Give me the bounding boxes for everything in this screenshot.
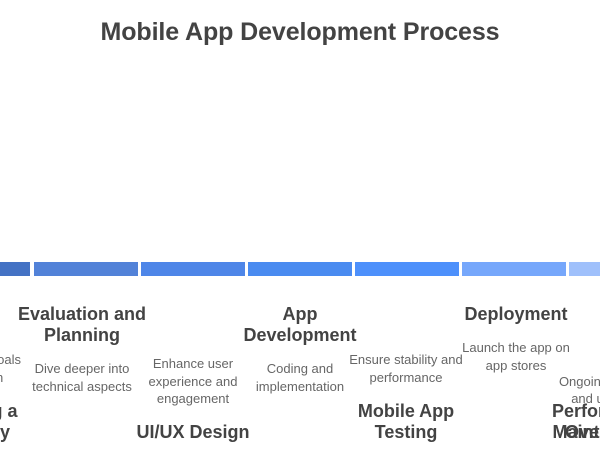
milestone-deployment: Deployment Launch the app on app stores (440, 286, 592, 465)
timeline-bar (0, 262, 600, 276)
milestone-description: Launch the app on app stores (462, 339, 570, 374)
milestone-label: Evaluation and Planning (18, 304, 146, 346)
milestone-description: Coding and implementation (256, 360, 344, 395)
milestone-label: App Development (243, 304, 356, 346)
milestone-evaluation-and-planning: Evaluation and Planning Dive deeper into… (6, 286, 158, 465)
milestone-description: Dive deeper into technical aspects (32, 360, 132, 395)
milestone-app-development: App Development Coding and implementatio… (224, 286, 376, 465)
milestone-label: Deployment (464, 304, 567, 325)
chart-title: Mobile App Development Process (0, 18, 600, 47)
process-timeline-chart: Mobile App Development Process Define th… (0, 0, 600, 465)
